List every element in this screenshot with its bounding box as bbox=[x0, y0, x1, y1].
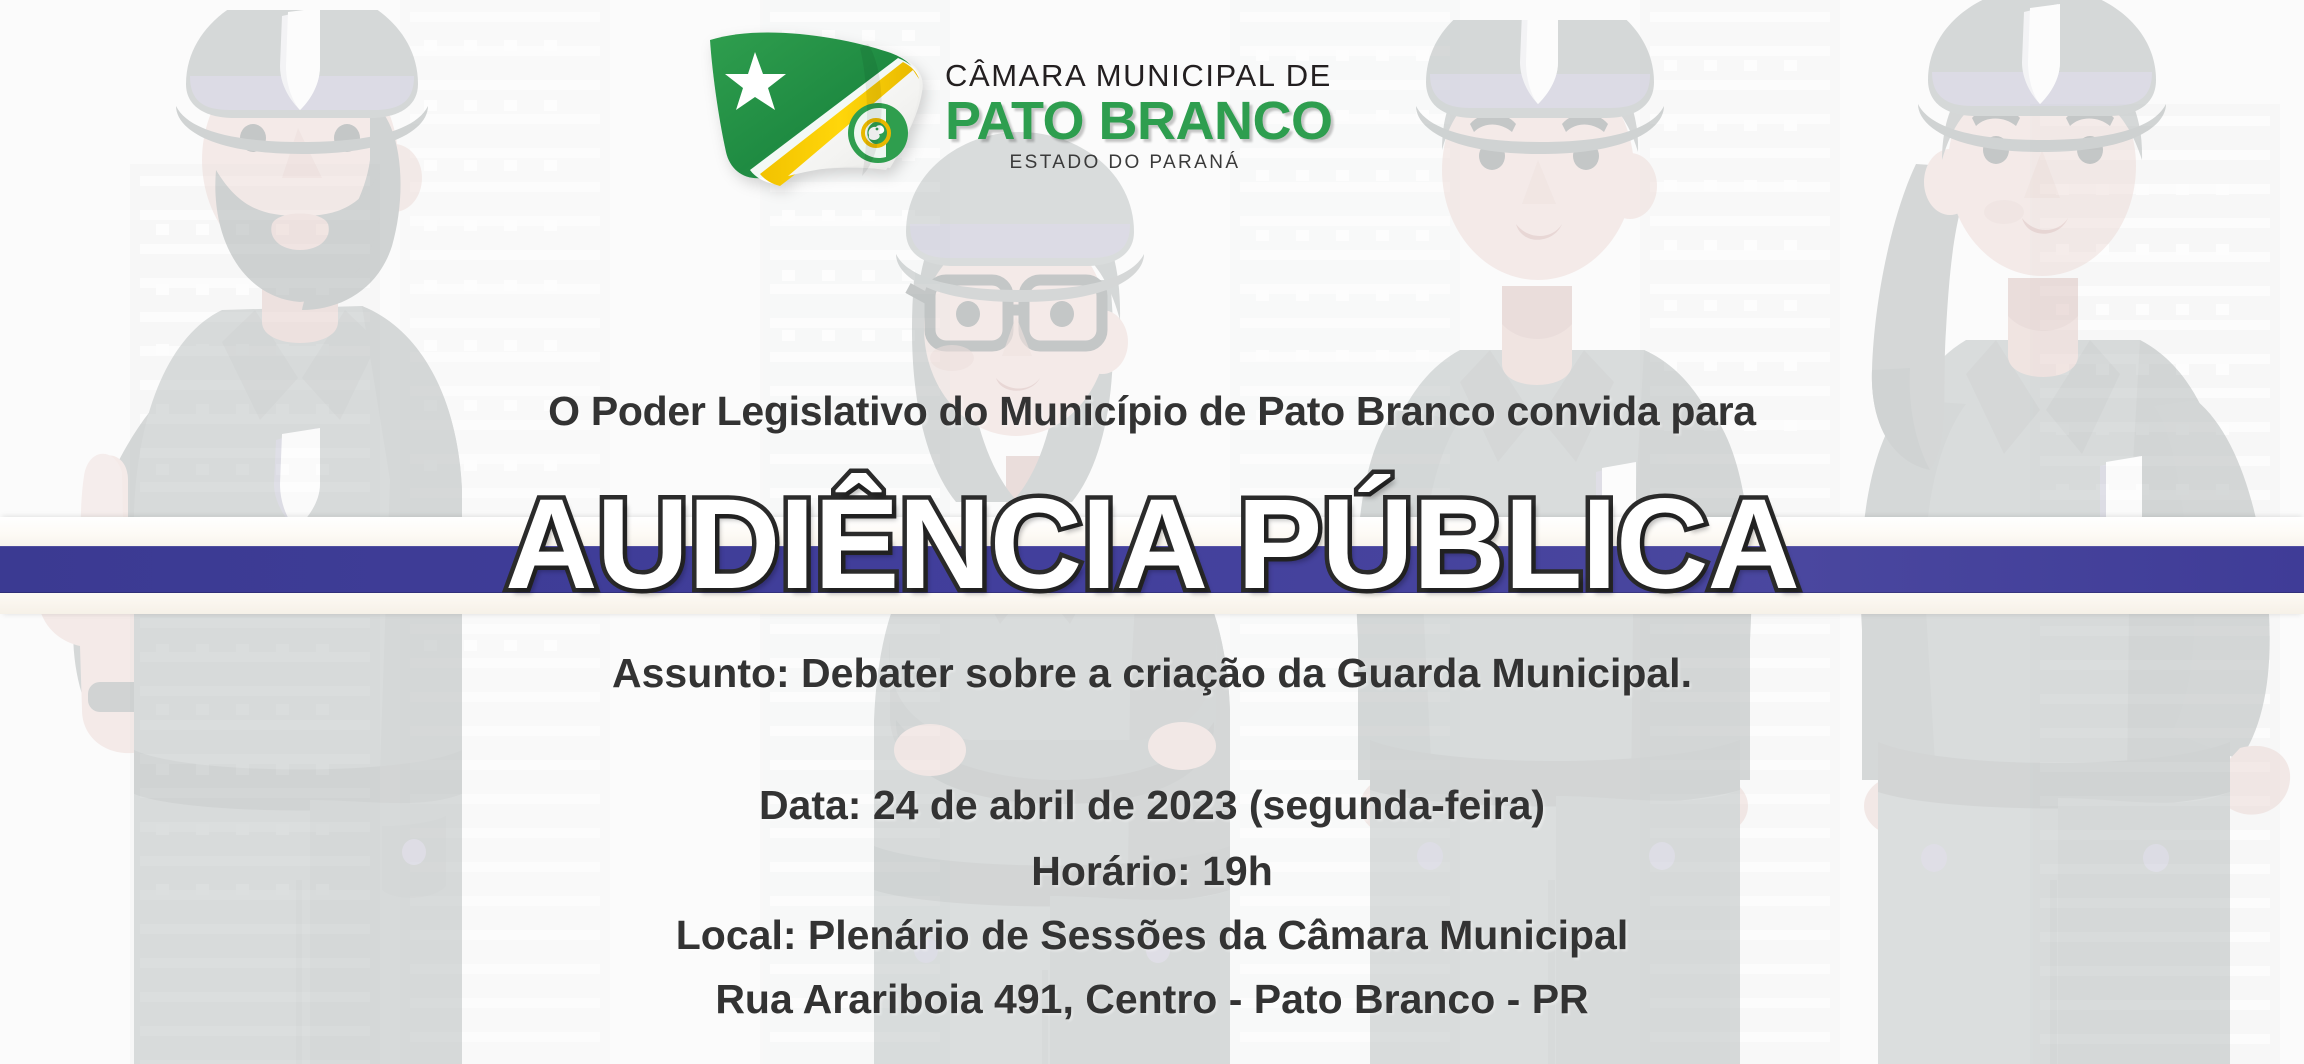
officer-illustration bbox=[810, 120, 1310, 1064]
officer-illustration bbox=[10, 10, 590, 1064]
officer-illustration bbox=[1300, 20, 1820, 1064]
officer-male-center bbox=[1300, 20, 1820, 1064]
officer-male-thumbsup bbox=[10, 10, 590, 1064]
logo-line-camara-municipal-de: CÂMARA MUNICIPAL DE bbox=[945, 60, 1305, 93]
camara-municipal-logo: CÂMARA MUNICIPAL DE PATO BRANCO ESTADO D… bbox=[700, 18, 1320, 208]
logo-text-block: CÂMARA MUNICIPAL DE PATO BRANCO ESTADO D… bbox=[945, 18, 1305, 174]
poster-canvas: CÂMARA MUNICIPAL DE PATO BRANCO ESTADO D… bbox=[0, 0, 2304, 1064]
officer-female-ponytail bbox=[1800, 0, 2304, 1064]
logo-line-estado-do-parana: ESTADO DO PARANÁ bbox=[945, 152, 1305, 174]
officer-female-glasses bbox=[810, 120, 1310, 1064]
pato-branco-flag-icon bbox=[700, 18, 935, 188]
officer-illustration bbox=[1800, 0, 2304, 1064]
logo-line-pato-branco: PATO BRANCO bbox=[945, 95, 1305, 148]
